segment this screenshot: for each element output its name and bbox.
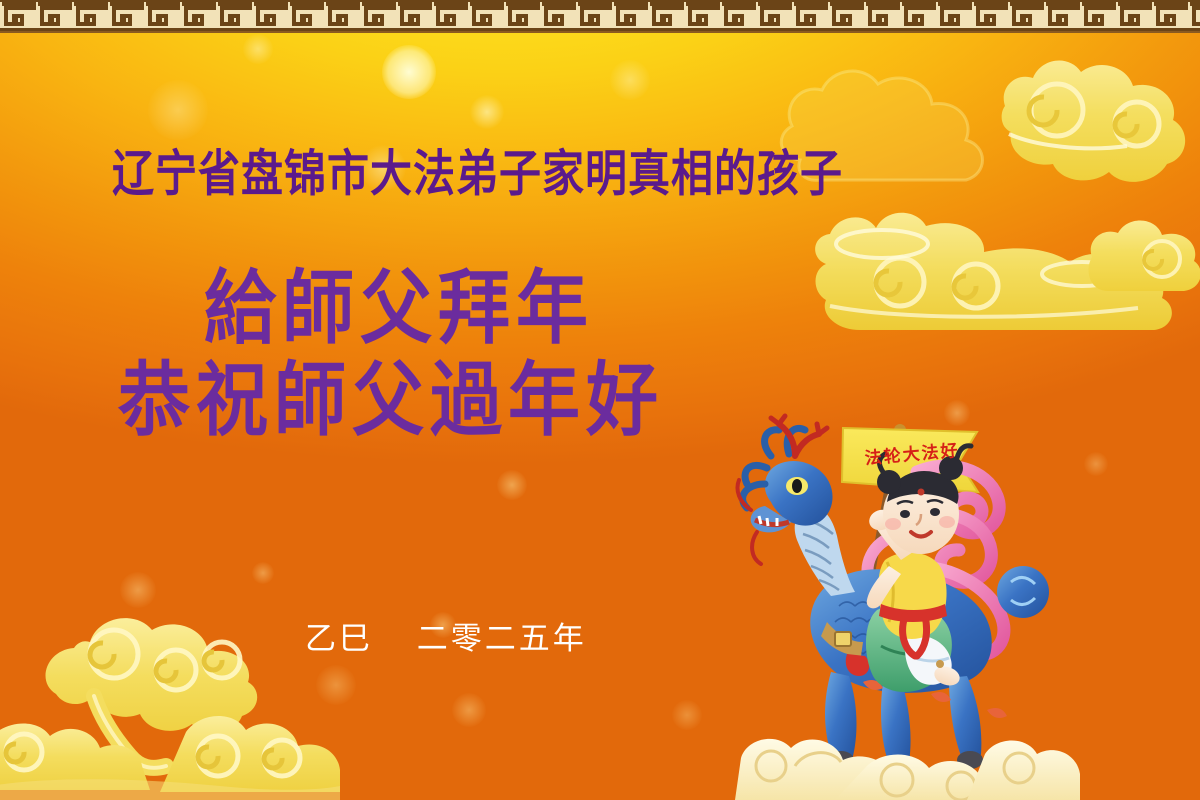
bokeh-dot	[497, 470, 527, 500]
bokeh-dot	[1084, 452, 1108, 476]
bokeh-dot	[316, 665, 356, 705]
greeting-line-2: 恭祝師父過年好	[118, 354, 664, 446]
meander-border-top	[0, 0, 1200, 33]
greeting-block: 給師父拜年 恭祝師父過年好	[118, 262, 664, 446]
bokeh-dot	[672, 700, 702, 730]
cloud-bottom-left	[0, 590, 340, 800]
bokeh-dot	[452, 693, 486, 727]
bokeh-dot	[243, 34, 273, 64]
bokeh-dot	[382, 45, 436, 99]
new-year-greeting-card: 法轮大法好 辽宁省盘锦市大法弟子家明真相的孩子 給師父拜年 恭祝師父過年好 乙巳…	[0, 0, 1200, 800]
meander-pattern	[0, 0, 1200, 33]
date-ganzhi: 乙巳	[305, 621, 373, 657]
bokeh-dot	[610, 60, 650, 100]
date-line: 乙巳 二零二五年	[305, 613, 587, 658]
greeting-line-1: 給師父拜年	[118, 262, 664, 354]
date-year: 二零二五年	[417, 621, 587, 657]
bokeh-dot	[252, 562, 274, 584]
bokeh-dot	[148, 80, 208, 140]
bokeh-dot	[120, 572, 156, 608]
page-title: 辽宁省盘锦市大法弟子家明真相的孩子	[112, 134, 1042, 206]
cloud-right-small	[1080, 205, 1200, 315]
bokeh-dot	[470, 95, 504, 129]
dragon-and-child-illustration	[735, 410, 1080, 800]
